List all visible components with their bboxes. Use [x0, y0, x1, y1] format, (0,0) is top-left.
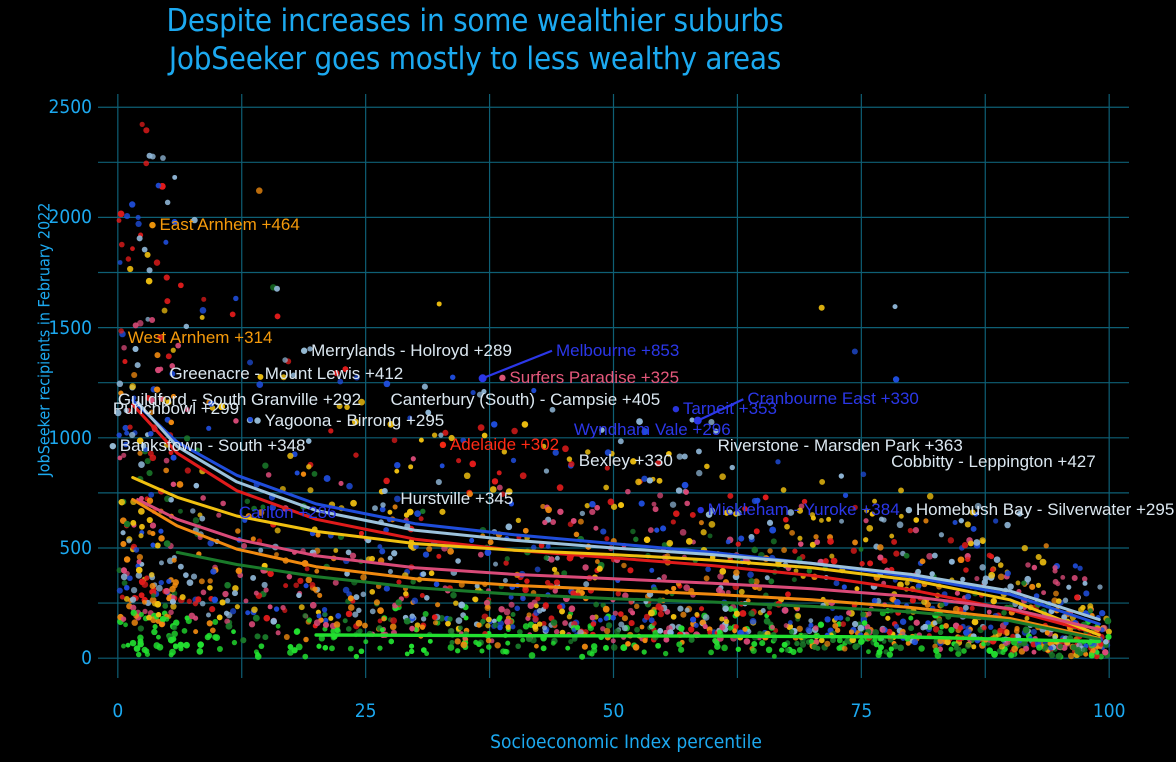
- x-tick-label: 0: [88, 700, 148, 722]
- y-tick-label: 500: [12, 537, 92, 559]
- annotation-label: Merrylands - Holroyd +289: [311, 342, 512, 359]
- annotation-label: Greenacre - Mount Lewis +412: [169, 365, 403, 382]
- y-tick-label: 0: [12, 647, 92, 669]
- annotation-label: Mickleham - Yuroke +384: [708, 501, 900, 518]
- annotation-label: Cobbitty - Leppington +427: [891, 453, 1096, 470]
- x-tick-label: 25: [336, 700, 396, 722]
- annotation-label: Bankstown - South +348: [120, 437, 306, 454]
- x-tick-label: 50: [584, 700, 644, 722]
- annotation-label: Yagoona - Birrong +295: [265, 412, 445, 429]
- annotation-label: Canterbury (South) - Campsie +405: [390, 391, 660, 408]
- plot-area: East Arnhem +464West Arnhem +314Merrylan…: [98, 94, 1129, 678]
- y-tick-label: 1500: [12, 317, 92, 339]
- annotation-label: Carlton +286: [239, 504, 337, 521]
- x-axis-title: Socioeconomic Index percentile: [98, 731, 1154, 753]
- y-tick-label: 2000: [12, 206, 92, 228]
- y-tick-label: 2500: [12, 96, 92, 118]
- annotation-label: Wyndham Vale +296: [574, 421, 731, 438]
- annotation-label: Homebush Bay - Silverwater +295: [916, 501, 1174, 518]
- annotation-label: West Arnhem +314: [128, 329, 273, 346]
- annotation-label: Adelaide +302: [450, 436, 559, 453]
- chart-root: Despite increases in some wealthier subu…: [0, 0, 1176, 762]
- annotation-label: Bexley +330: [579, 452, 673, 469]
- annotation-label: Hurstville +345: [400, 490, 513, 507]
- x-tick-label: 75: [831, 700, 891, 722]
- annotation-label: Tarneit +353: [683, 400, 777, 417]
- x-tick-label: 100: [1079, 700, 1139, 722]
- annotation-label: Melbourne +853: [556, 342, 679, 359]
- annotation-label: Surfers Paradise +325: [509, 369, 679, 386]
- y-axis-title: JobSeeker recipients in February 2022: [35, 120, 54, 560]
- annotation-label: Riverstone - Marsden Park +363: [718, 437, 963, 454]
- y-tick-label: 1000: [12, 427, 92, 449]
- annotation-label: East Arnhem +464: [159, 216, 299, 233]
- annotation-label: Punchbowl +299: [113, 400, 239, 417]
- chart-title: Despite increases in some wealthier subu…: [0, 2, 950, 78]
